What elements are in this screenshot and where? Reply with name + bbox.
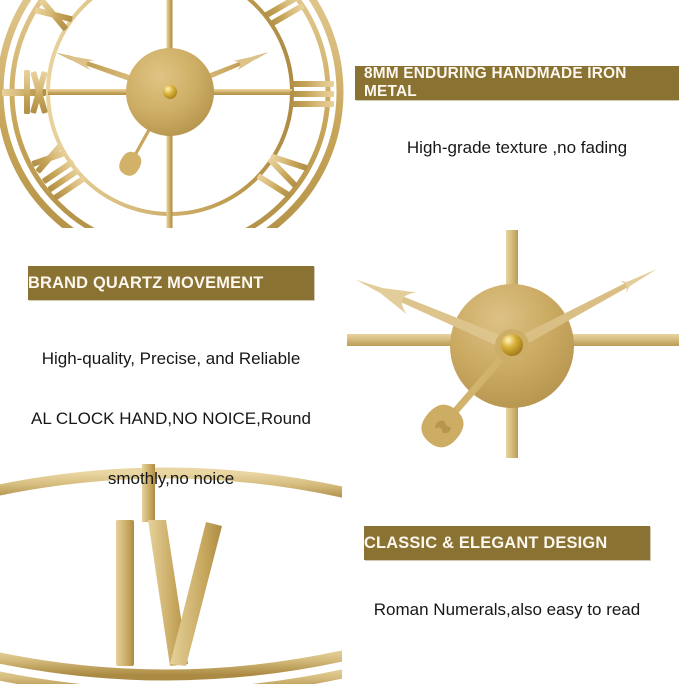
feature-quartz-heading: BRAND QUARTZ MOVEMENT xyxy=(28,274,314,293)
feature-quartz-line-3: smothly,no noice xyxy=(16,464,326,494)
feature-classic-banner: CLASSIC & ELEGANT DESIGN xyxy=(364,526,650,560)
feature-classic-line-1: Roman Numerals,also easy to read xyxy=(352,598,662,622)
feature-classic-description: Roman Numerals,also easy to read xyxy=(352,574,662,646)
movement-illustration xyxy=(345,228,679,458)
clock-center-cap xyxy=(163,85,177,99)
product-image-movement xyxy=(345,228,679,458)
feature-iron-line-1: High-grade texture ,no fading xyxy=(355,136,679,160)
feature-quartz-description: High-quality, Precise, and Reliable AL C… xyxy=(16,314,326,524)
feature-iron-description: High-grade texture ,no fading xyxy=(355,112,679,184)
feature-classic: CLASSIC & ELEGANT DESIGN Roman Numerals,… xyxy=(364,526,650,646)
feature-quartz-line-2: AL CLOCK HAND,NO NOICE,Round xyxy=(16,404,326,434)
infographic-page: 8MM ENDURING HANDMADE IRON METAL High-gr… xyxy=(0,0,679,679)
feature-iron-banner: 8MM ENDURING HANDMADE IRON METAL xyxy=(355,66,679,100)
feature-iron-heading: 8MM ENDURING HANDMADE IRON METAL xyxy=(364,65,679,101)
feature-quartz-line-1: High-quality, Precise, and Reliable xyxy=(16,344,326,374)
feature-classic-heading: CLASSIC & ELEGANT DESIGN xyxy=(364,534,650,553)
product-image-clock-face xyxy=(0,0,346,228)
feature-iron: 8MM ENDURING HANDMADE IRON METAL High-gr… xyxy=(355,66,679,184)
numeral-glyph-vi xyxy=(116,520,222,666)
feature-quartz-banner: BRAND QUARTZ MOVEMENT xyxy=(28,266,314,300)
clock-face-illustration xyxy=(0,0,346,228)
feature-quartz: BRAND QUARTZ MOVEMENT High-quality, Prec… xyxy=(28,266,314,524)
movement-center-cap xyxy=(501,334,523,356)
